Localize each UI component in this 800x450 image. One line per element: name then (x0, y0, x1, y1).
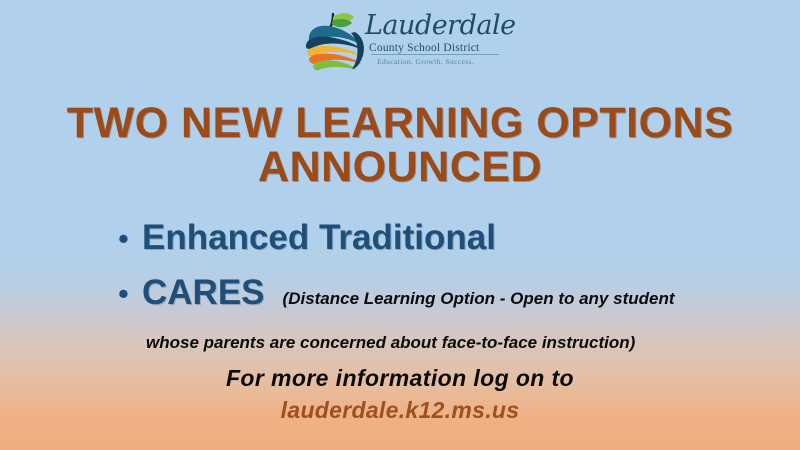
cares-note-line-2: whose parents are concerned about face-t… (146, 331, 635, 355)
list-item-enhanced-traditional: • Enhanced Traditional (118, 216, 788, 260)
cares-block: CARES(Distance Learning Option - Open to… (142, 271, 675, 315)
logo-wordmark: Lauderdale County School District Educat… (365, 8, 501, 72)
headline-line-1: TWO NEW LEARNING OPTIONS (0, 101, 800, 145)
slide-canvas: Lauderdale County School District Educat… (0, 0, 800, 450)
district-logo: Lauderdale County School District Educat… (0, 4, 800, 76)
logo-tagline-text: Education. Growth. Success. (377, 57, 474, 66)
footer-website-url[interactable]: lauderdale.k12.ms.us (0, 394, 800, 426)
logo-script-text: Lauderdale (365, 12, 516, 39)
footer-info: For more information log on to lauderdal… (0, 362, 800, 426)
bullet-dot-icon: • (118, 278, 142, 309)
option-label-cares: CARES (142, 273, 265, 312)
bullet-dot-icon: • (118, 223, 142, 254)
apple-logo-icon (299, 8, 371, 72)
logo-inner: Lauderdale County School District Educat… (299, 6, 501, 74)
options-list: • Enhanced Traditional • CARES(Distance … (118, 216, 788, 315)
option-label-enhanced-traditional: Enhanced Traditional (142, 216, 496, 260)
headline: TWO NEW LEARNING OPTIONS ANNOUNCED (0, 101, 800, 189)
headline-line-2: ANNOUNCED (0, 145, 800, 189)
footer-call-to-action: For more information log on to (0, 362, 800, 394)
list-item-cares: • CARES(Distance Learning Option - Open … (118, 271, 788, 315)
cares-note-line-1: (Distance Learning Option - Open to any … (283, 289, 675, 308)
logo-subtitle-text: County School District (369, 42, 479, 54)
logo-divider-rule (371, 54, 499, 55)
